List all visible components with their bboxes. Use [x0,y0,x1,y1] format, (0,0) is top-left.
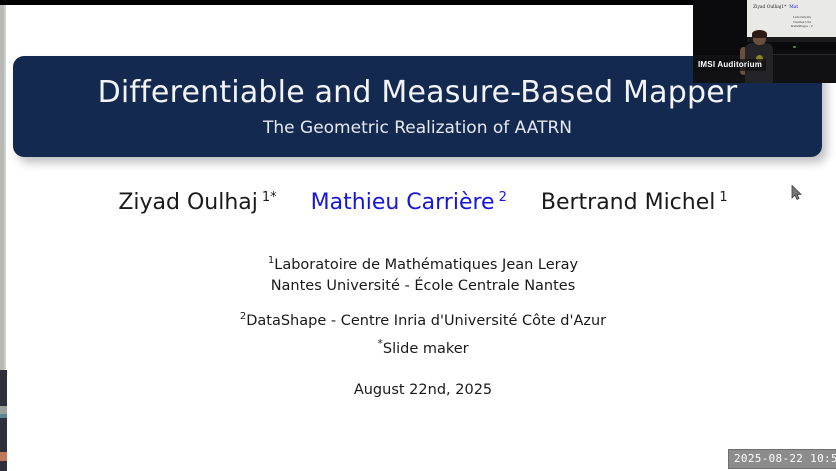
left-strip-segment [0,418,7,452]
page-subtitle: The Geometric Realization of AATRN [263,118,572,138]
affiliations-block: 1Laboratoire de Mathématiques Jean Leray… [10,255,836,332]
author-name: Ziyad Oulhaj [118,190,258,215]
webcam-projected-body: Laboratoire Nantes Uni DataShape - C [773,15,831,29]
author-name: Mathieu Carrière [311,190,495,215]
affiliation-text: Laboratoire de Mathématiques Jean Leray [274,257,578,273]
page-title: Differentiable and Measure-Based Mapper [98,76,738,109]
affiliation-entry: 1Laboratoire de Mathématiques Jean Leray… [10,255,836,297]
affiliation-entry: 2DataShape - Centre Inria d'Université C… [10,311,836,332]
left-strip-segment [0,370,7,406]
left-strip-segment [0,452,7,461]
webcam-pip-overlay[interactable]: Ziyad Oulhaj1* Mat Laboratoire Nantes Un… [693,0,836,83]
presentation-date: August 22nd, 2025 [10,382,836,398]
webcam-projected-title: Ziyad Oulhaj1* Mat [753,5,798,10]
author-affiliation-mark: 1* [262,190,277,205]
authors-line: Ziyad Oulhaj1*Mathieu Carrière2Bertrand … [10,190,836,215]
affiliation-line: 2DataShape - Centre Inria d'Université C… [10,311,836,332]
affiliation-line: Nantes Université - École Centrale Nante… [10,276,836,297]
left-strip-segment [0,461,7,471]
author-entry: Bertrand Michel1 [541,190,728,215]
screen-capture-frame: Differentiable and Measure-Based Mapper … [0,0,836,471]
affiliation-text: DataShape - Centre Inria d'Université Cô… [246,313,606,329]
affiliation-spacer [10,297,836,311]
left-edge-window-strip[interactable] [0,5,10,471]
timestamp-overlay: 2025-08-22 10:54:57 [729,450,836,468]
webcam-indicator-light-icon [793,46,796,48]
webcam-location-label: IMSI Auditorium [694,59,766,71]
author-entry-highlighted: Mathieu Carrière2 [311,190,507,215]
affiliation-line: 1Laboratoire de Mathématiques Jean Leray [10,255,836,276]
slide-maker-note: *Slide maker [10,341,836,357]
author-name: Bertrand Michel [541,190,716,215]
webcam-projected-author-blue: Mat [789,5,798,10]
author-entry: Ziyad Oulhaj1* [118,190,276,215]
webcam-projected-author: Ziyad Oulhaj [753,5,781,10]
slide-maker-text: Slide maker [383,341,469,357]
author-affiliation-mark: 1 [719,190,727,205]
webcam-projected-mark: 1* [781,5,786,10]
author-affiliation-mark: 2 [499,190,507,205]
left-strip-segment [0,406,7,414]
webcam-projected-body-line: DataShape - C [773,24,831,29]
webcam-presenter-hair [752,30,767,38]
